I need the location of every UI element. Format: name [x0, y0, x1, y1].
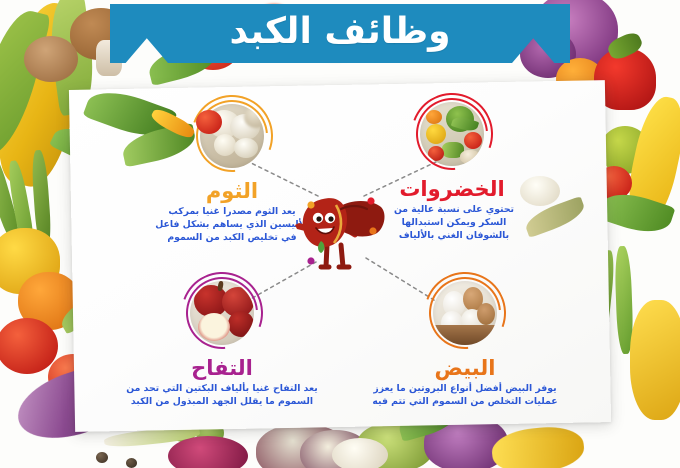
food-node-eggs[interactable]: البيض يوفر البيض أفضل أنواع البروتين ما … [360, 272, 570, 408]
liver-character [293, 183, 389, 275]
title-ribbon: وظائف الكبد [110, 4, 570, 63]
veg-carrot [426, 110, 442, 124]
veg-tomato [464, 132, 482, 149]
red-onion [168, 436, 248, 468]
vegetables-photo [420, 102, 484, 166]
garlic-background-bulb [244, 106, 264, 128]
yellow-squash-right [630, 300, 680, 420]
vegetables-circle [411, 93, 493, 175]
eggs-circle [424, 272, 506, 354]
apple-slice [198, 313, 230, 341]
eggs-photo [433, 281, 497, 345]
tomato-left [0, 318, 58, 374]
apple-photo [190, 281, 254, 345]
node-title-apple: التفاح [117, 357, 327, 379]
veg-pepper-yellow [426, 124, 446, 144]
node-body-eggs: يوفر البيض أفضل أنواع البروتين ما يعزز ع… [360, 382, 570, 408]
connector-dot-veg [367, 197, 374, 204]
node-title-eggs: البيض [360, 357, 570, 379]
veg-onion [460, 150, 480, 164]
egg-bowl [435, 325, 497, 345]
veg-cherry-tomato [428, 146, 444, 161]
cherry-tomato-overlay [196, 110, 222, 134]
garlic-bulb-bottom [332, 438, 388, 468]
node-body-apple: يعد التفاح غنيا بألياف البكتين التي تحد … [117, 382, 327, 408]
garlic-clove-overlay [520, 176, 560, 206]
garlic-clove-2 [234, 138, 258, 158]
garlic-circle [191, 95, 273, 177]
garlic-clove [214, 134, 236, 156]
connector-dot-eggs [369, 227, 376, 234]
liver-legs [321, 245, 349, 267]
connector-dot-garlic [307, 201, 314, 208]
apple-circle [181, 272, 263, 354]
red-apple-3 [228, 311, 254, 337]
peppercorn [96, 452, 108, 463]
egg-brown-2 [477, 303, 495, 325]
peppercorn-2 [126, 458, 137, 468]
connector-dot-apple [307, 257, 314, 264]
food-node-apple[interactable]: التفاح يعد التفاح غنيا بألياف البكتين ال… [117, 272, 327, 408]
mushroom-cap-2 [24, 36, 78, 82]
infographic-root: الثوم يعد الثوم مصدرا غنيا بمركب الأليسي… [0, 0, 680, 468]
page-title: وظائف الكبد [230, 14, 451, 54]
